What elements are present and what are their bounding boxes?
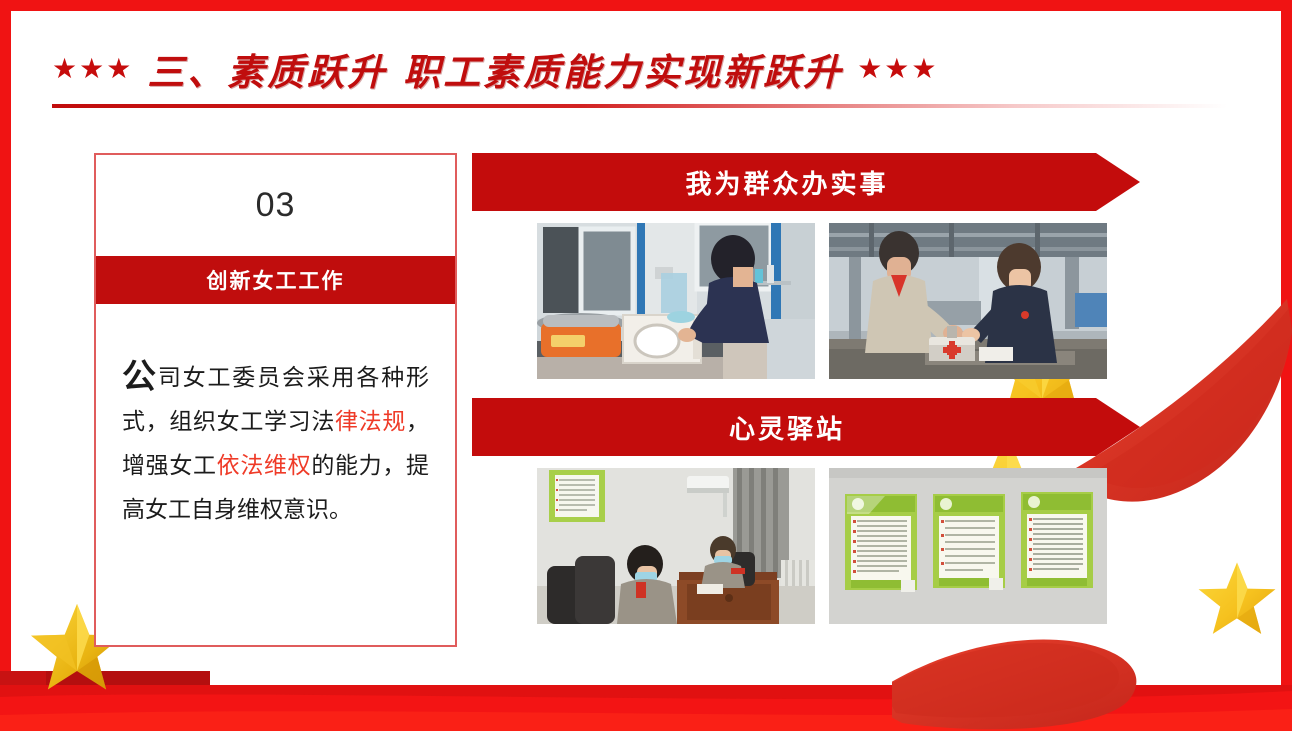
section-banner: 心灵驿站 <box>472 398 1140 456</box>
card-body-segments: 司女工委员会采用各种形式，组织女工学习法律法规，增强女工依法维权的能力，提高女工… <box>122 365 429 522</box>
photo-row <box>537 468 1140 624</box>
title-underline-rule <box>52 104 1227 108</box>
section-banner-label: 心灵驿站 <box>729 409 845 446</box>
card-subtitle: 创新女工工作 <box>96 256 455 304</box>
section-heart-station: 心灵驿站 <box>472 398 1140 624</box>
card-body-segment-1: 律法规 <box>335 409 406 434</box>
photo-workshop-first-aid <box>829 223 1107 379</box>
section-banner-label: 我为群众办实事 <box>685 164 888 201</box>
slide-root: ★★★ 三、素质跃升 职工素质能力实现新跃升 ★★★ 03 创新女工工作 公司女… <box>0 0 1292 731</box>
card-body-text: 公司女工委员会采用各种形式，组织女工学习法律法规，增强女工依法维权的能力，提高女… <box>96 304 455 532</box>
section-we-serve-the-masses: 我为群众办实事 <box>472 153 1140 379</box>
info-card: 03 创新女工工作 公司女工委员会采用各种形式，组织女工学习法律法规，增强女工依… <box>94 153 457 647</box>
card-lead-char: 公 <box>122 359 158 396</box>
content-sections: 我为群众办实事 <box>472 153 1140 653</box>
photo-row <box>537 223 1140 379</box>
photo-canteen-microwave <box>537 223 815 379</box>
page-title: ★★★ 三、素质跃升 职工素质能力实现新跃升 ★★★ <box>52 38 1052 100</box>
stars-right-icon: ★★★ <box>857 55 938 83</box>
page-title-text: 三、素质跃升 职工素质能力实现新跃升 <box>147 42 843 96</box>
section-banner: 我为群众办实事 <box>472 153 1140 211</box>
photo-counseling-office <box>537 468 815 624</box>
photo-wall-posters <box>829 468 1107 624</box>
card-body-segment-3: 依法维权 <box>217 453 312 478</box>
stars-left-icon: ★★★ <box>52 55 133 83</box>
card-number: 03 <box>96 155 455 256</box>
